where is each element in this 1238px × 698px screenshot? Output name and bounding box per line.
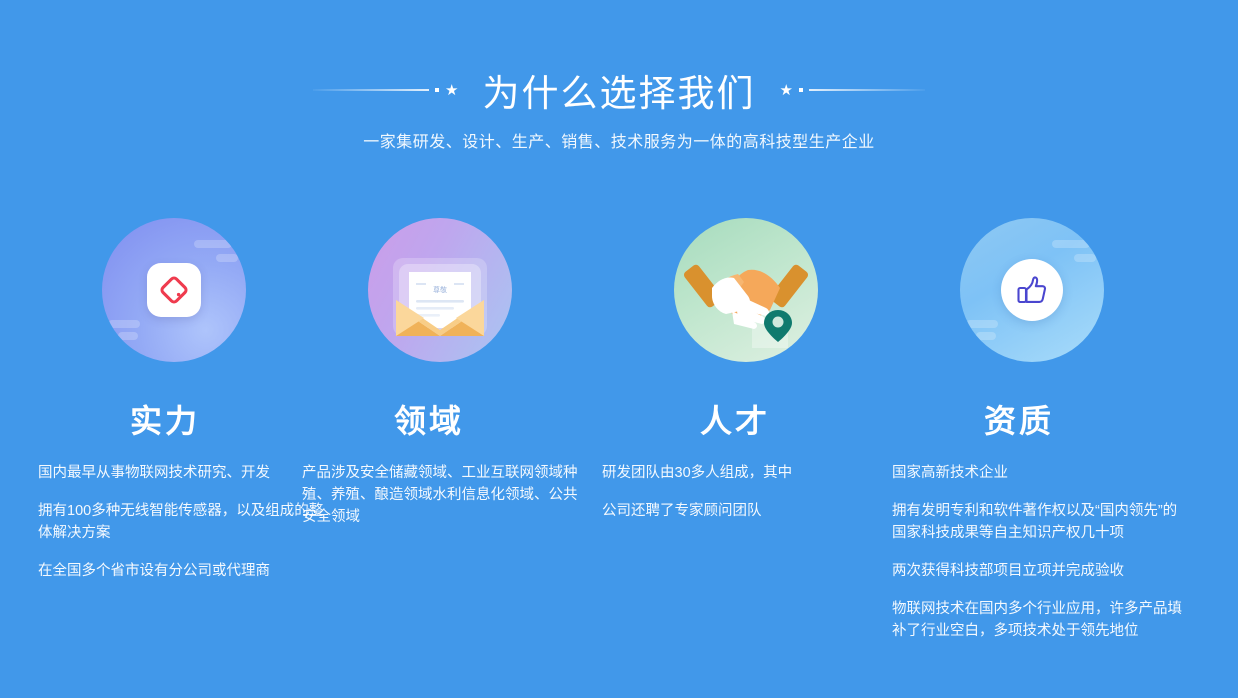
diamond-badge-icon [102,218,246,362]
list-item: 拥有100多种无线智能传感器，以及组成的整体解决方案 [38,500,328,544]
feature-title-qualification: 资质 [892,396,1176,442]
feature-column-domain: 尊敬 领域 产品涉及安全储藏领域、工业互 [294,200,588,658]
envelope-letter-icon: 尊敬 [368,218,512,362]
handshake-location-icon [674,218,818,362]
streak-decor-icon [118,332,138,340]
feature-title-domain: 领域 [302,396,588,442]
streak-decor-icon [194,240,232,248]
feature-columns: 实力 国内最早从事物联网技术研究、开发 拥有100多种无线智能传感器，以及组成的… [0,200,1238,658]
letter-heading-text: 尊敬 [433,285,447,294]
thumb-glyph-icon [1014,272,1050,308]
streak-decor-icon [966,320,998,328]
feature-text-list: 国内最早从事物联网技术研究、开发 拥有100多种无线智能传感器，以及组成的整体解… [38,462,294,582]
icon-container [602,200,882,380]
streak-decor-icon [976,332,996,340]
feature-column-talent: 人才 研发团队由30多人组成，其中 公司还聘了专家顾问团队 [588,200,882,658]
star-left-icon: ★ [445,83,458,98]
feature-text-list: 研发团队由30多人组成，其中 公司还聘了专家顾问团队 [602,462,882,522]
handshake-svg [674,218,818,362]
page-title: 为什么选择我们 [459,63,780,117]
star-right-icon: ★ [780,83,793,98]
list-item: 国家高新技术企业 [892,462,1182,484]
streak-decor-icon [108,320,140,328]
feature-column-strength: 实力 国内最早从事物联网技术研究、开发 拥有100多种无线智能传感器，以及组成的… [0,200,294,658]
icon-container [892,200,1176,380]
list-item: 物联网技术在国内多个行业应用，许多产品填补了行业空白，多项技术处于领先地位 [892,598,1182,642]
feature-text-list: 产品涉及安全储藏领域、工业互联网领域种殖、养殖、酿造领域水利信息化领域、公共安全… [302,462,588,528]
streak-decor-icon [1074,254,1096,262]
decorative-dot-left-icon [435,88,439,92]
envelope-svg: 尊敬 [368,218,512,362]
list-item: 在全国多个省市设有分公司或代理商 [38,560,328,582]
list-item: 公司还聘了专家顾问团队 [602,500,852,522]
icon-container: 尊敬 [302,200,588,380]
decoration-right: ★ [780,83,925,98]
decorative-dot-right-icon [799,88,803,92]
decorative-line-right-icon [809,89,925,91]
feature-title-strength: 实力 [38,396,294,442]
section-header: ★ 为什么选择我们 ★ 一家集研发、设计、生产、销售、技术服务为一体的高科技型生… [0,0,1238,118]
white-disc [1001,259,1063,321]
page-subtitle: 一家集研发、设计、生产、销售、技术服务为一体的高科技型生产企业 [0,128,1238,152]
icon-container [38,200,294,380]
title-row: ★ 为什么选择我们 ★ [0,62,1238,118]
streak-decor-icon [1052,240,1090,248]
white-tile [147,263,201,317]
streak-decor-icon [216,254,238,262]
decorative-line-left-icon [313,89,429,91]
list-item: 两次获得科技部项目立项并完成验收 [892,560,1182,582]
decoration-left: ★ [313,83,458,98]
thumbs-up-icon [960,218,1104,362]
feature-column-qualification: 资质 国家高新技术企业 拥有发明专利和软件著作权以及“国内领先”的国家科技成果等… [882,200,1176,658]
list-item: 国内最早从事物联网技术研究、开发 [38,462,328,484]
list-item: 产品涉及安全储藏领域、工业互联网领域种殖、养殖、酿造领域水利信息化领域、公共安全… [302,462,587,528]
feature-title-talent: 人才 [602,396,882,442]
feature-text-list: 国家高新技术企业 拥有发明专利和软件著作权以及“国内领先”的国家科技成果等自主知… [892,462,1176,642]
list-item: 研发团队由30多人组成，其中 [602,462,852,484]
why-choose-us-section: ★ 为什么选择我们 ★ 一家集研发、设计、生产、销售、技术服务为一体的高科技型生… [0,0,1238,698]
list-item: 拥有发明专利和软件著作权以及“国内领先”的国家科技成果等自主知识产权几十项 [892,500,1182,544]
red-diamond-icon [158,274,190,306]
